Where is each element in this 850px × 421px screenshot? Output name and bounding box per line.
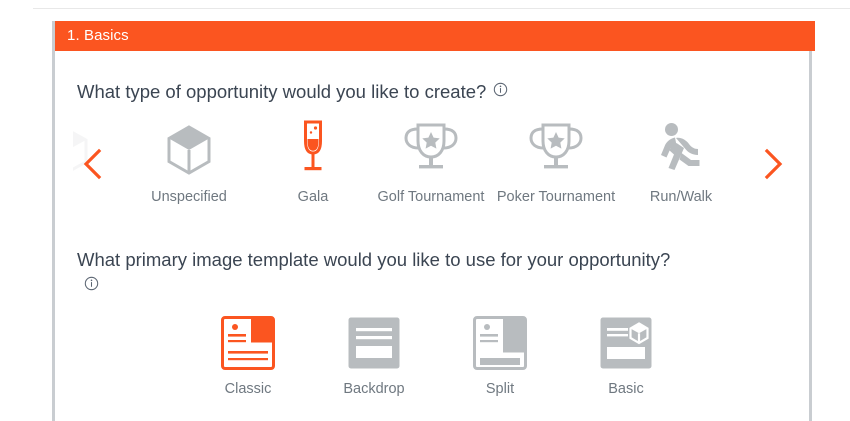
question-image-template: What primary image template would you li… — [77, 247, 677, 299]
template-option-backdrop[interactable]: Backdrop — [319, 315, 429, 397]
basics-panel: 1. Basics What type of opportunity would… — [52, 21, 812, 421]
template-backdrop-icon — [319, 315, 429, 371]
top-divider — [33, 8, 850, 9]
panel-body: What type of opportunity would you like … — [55, 51, 809, 421]
template-option-classic[interactable]: Classic — [193, 315, 303, 397]
running-person-icon — [621, 119, 741, 177]
page-root: 1. Basics What type of opportunity would… — [0, 0, 850, 407]
carousel-option-poker-tournament[interactable]: Poker Tournament — [496, 119, 616, 206]
template-option-label: Classic — [193, 381, 303, 397]
info-circle-icon[interactable] — [493, 82, 508, 97]
carousel-option-run-walk[interactable]: Run/Walk — [621, 119, 741, 206]
carousel-option-unspecified[interactable]: Unspecified — [129, 119, 249, 206]
template-option-label: Backdrop — [319, 381, 429, 397]
template-option-label: Split — [445, 381, 555, 397]
trophy-icon — [371, 119, 491, 177]
info-circle-icon[interactable] — [84, 276, 99, 291]
carousel-option-label: Unspecified — [129, 189, 249, 206]
panel-header: 1. Basics — [55, 21, 815, 51]
trophy-icon — [496, 119, 616, 177]
chevron-left-icon — [81, 147, 111, 181]
template-option-split[interactable]: Split — [445, 315, 555, 397]
question-opportunity-type: What type of opportunity would you like … — [77, 79, 717, 105]
carousel-prev-button[interactable] — [81, 147, 111, 181]
carousel-options: Unspecified — [117, 119, 767, 229]
champagne-glass-icon — [253, 119, 373, 177]
panel-header-title: 1. Basics — [67, 27, 129, 44]
template-option-basic[interactable]: Basic — [571, 315, 681, 397]
template-classic-icon — [193, 315, 303, 371]
carousel-option-label: Run/Walk — [621, 189, 741, 206]
carousel-option-gala[interactable]: Gala — [253, 119, 373, 206]
image-template-options: Classic Backdrop — [55, 315, 809, 415]
carousel-option-label: Gala — [253, 189, 373, 206]
question-image-template-text: What primary image template would you li… — [77, 249, 670, 270]
question-opportunity-type-text: What type of opportunity would you like … — [77, 81, 486, 102]
template-option-label: Basic — [571, 381, 681, 397]
carousel-option-golf-tournament[interactable]: Golf Tournament — [371, 119, 491, 206]
carousel-option-label: Poker Tournament — [496, 189, 616, 206]
opportunity-type-carousel: n — [55, 119, 809, 229]
carousel-option-label: Golf Tournament — [371, 189, 491, 206]
template-split-icon — [445, 315, 555, 371]
template-basic-icon — [571, 315, 681, 371]
cube-icon — [129, 119, 249, 177]
